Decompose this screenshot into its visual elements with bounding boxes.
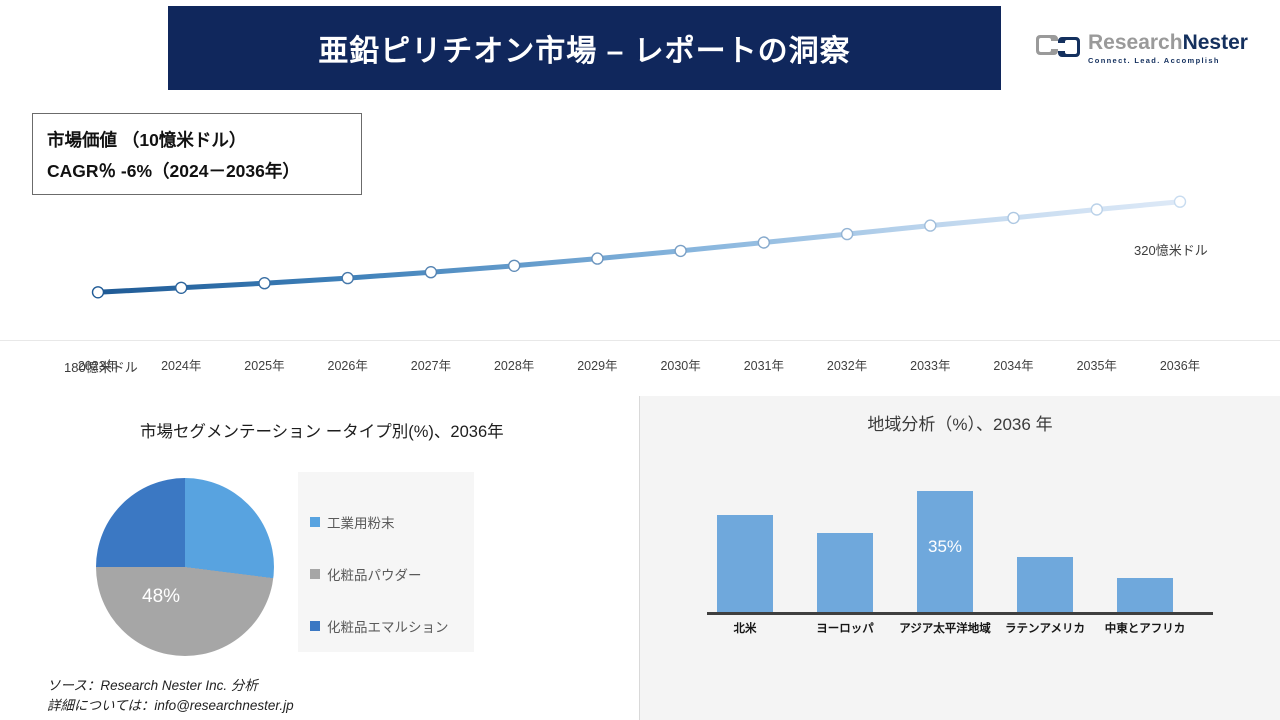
bar-column: 北米 [717, 515, 773, 612]
line-chart-x-label: 2026年 [328, 355, 368, 374]
legend-item: 工業用粉末 [310, 496, 474, 548]
line-chart-marker [176, 282, 187, 293]
bar-value-label: 35% [917, 537, 973, 557]
bar-column: 中東とアフリカ [1117, 578, 1173, 613]
line-chart-marker [1008, 212, 1019, 223]
source-line: ソース：Research Nester Inc. 分析 [47, 676, 294, 696]
line-chart-x-label: 2034年 [993, 355, 1033, 374]
line-chart-x-label: 2035年 [1077, 355, 1117, 374]
legend-swatch-icon [310, 517, 320, 527]
line-chart-marker [925, 220, 936, 231]
line-chart-marker [509, 260, 520, 271]
logo-tagline: Connect. Lead. Accomplish [1088, 57, 1248, 65]
legend-swatch-icon [310, 621, 320, 631]
segmentation-title: 市場セグメンテーション ータイプ別(%)、2036年 [140, 418, 504, 442]
line-chart-marker [259, 278, 270, 289]
bar-category-label: ラテンアメリカ [1005, 620, 1085, 636]
line-chart-plot [0, 110, 1280, 390]
bar-chart-baseline [707, 612, 1213, 615]
bar-column: ラテンアメリカ [1017, 557, 1073, 612]
line-chart-marker [425, 267, 436, 278]
legend-item: 化粧品パウダー [310, 548, 474, 600]
line-chart-x-label: 2033年 [910, 355, 950, 374]
legend-swatch-icon [310, 569, 320, 579]
line-chart-x-axis-labels: 2023年2024年2025年2026年2027年2028年2029年2030年… [0, 355, 1280, 379]
research-nester-logo: ResearchNester Connect. Lead. Accomplish [1036, 24, 1252, 72]
segmentation-pie-chart [96, 478, 274, 656]
regional-bar-chart: 北米ヨーロッパ35%アジア太平洋地域ラテンアメリカ中東とアフリカ [695, 458, 1225, 653]
legend-label: 化粧品パウダー [327, 564, 422, 584]
chain-link-logo-icon [1036, 29, 1080, 68]
bar-column: 35%アジア太平洋地域 [917, 491, 973, 612]
market-value-line-chart: 180憶米ドル 320憶米ドル [0, 110, 1280, 390]
line-chart-x-label: 2024年 [161, 355, 201, 374]
line-chart-marker [842, 229, 853, 240]
line-chart-x-label: 2025年 [244, 355, 284, 374]
line-chart-x-label: 2030年 [660, 355, 700, 374]
legend-label: 工業用粉末 [327, 512, 395, 532]
bar-category-label: アジア太平洋地域 [899, 620, 991, 636]
legend-label: 化粧品エマルション [327, 616, 449, 636]
line-chart-marker [93, 287, 104, 298]
header-banner: 亜鉛ピリチオン市場 – レポートの洞察 [168, 6, 1001, 90]
line-chart-marker [758, 237, 769, 248]
bar-rect [817, 533, 873, 612]
bar-category-label: 北米 [734, 620, 757, 636]
logo-wordmark: ResearchNester [1088, 32, 1248, 53]
logo-text: ResearchNester Connect. Lead. Accomplish [1088, 32, 1248, 65]
line-chart-x-label: 2032年 [827, 355, 867, 374]
line-chart-marker [342, 273, 353, 284]
line-chart-x-label: 2031年 [744, 355, 784, 374]
regional-analysis-panel: 地域分析（%）、2036 年 北米ヨーロッパ35%アジア太平洋地域ラテンアメリカ… [639, 396, 1280, 720]
bar-rect [1017, 557, 1073, 612]
line-chart-marker [1091, 204, 1102, 215]
logo-word-research: Research [1088, 31, 1183, 54]
bar-rect: 35% [917, 491, 973, 612]
bar-category-label: 中東とアフリカ [1105, 620, 1186, 636]
bar-rect [1117, 578, 1173, 613]
regional-analysis-title: 地域分析（%）、2036 年 [640, 410, 1280, 435]
source-footer: ソース：Research Nester Inc. 分析 詳細については：info… [47, 676, 294, 716]
contact-line: 詳細については：info@researchnester.jp [47, 696, 294, 716]
logo-word-nester: Nester [1183, 31, 1248, 54]
line-chart-x-label: 2036年 [1160, 355, 1200, 374]
bar-rect [717, 515, 773, 612]
bar-category-label: ヨーロッパ [816, 620, 874, 636]
line-chart-x-label: 2028年 [494, 355, 534, 374]
page-title: 亜鉛ピリチオン市場 – レポートの洞察 [318, 26, 850, 70]
line-chart-marker [1175, 196, 1186, 207]
legend-item: 化粧品エマルション [310, 600, 474, 652]
line-chart-x-label: 2027年 [411, 355, 451, 374]
line-chart-x-label: 2029年 [577, 355, 617, 374]
line-chart-x-label: 2023年 [78, 355, 118, 374]
line-chart-marker [675, 245, 686, 256]
line-chart-axis [0, 340, 1280, 341]
bar-column: ヨーロッパ [817, 533, 873, 612]
segmentation-legend: 工業用粉末化粧品パウダー化粧品エマルション [298, 472, 474, 652]
line-chart-marker [592, 253, 603, 264]
line-chart-end-value-label: 320憶米ドル [1134, 240, 1208, 259]
